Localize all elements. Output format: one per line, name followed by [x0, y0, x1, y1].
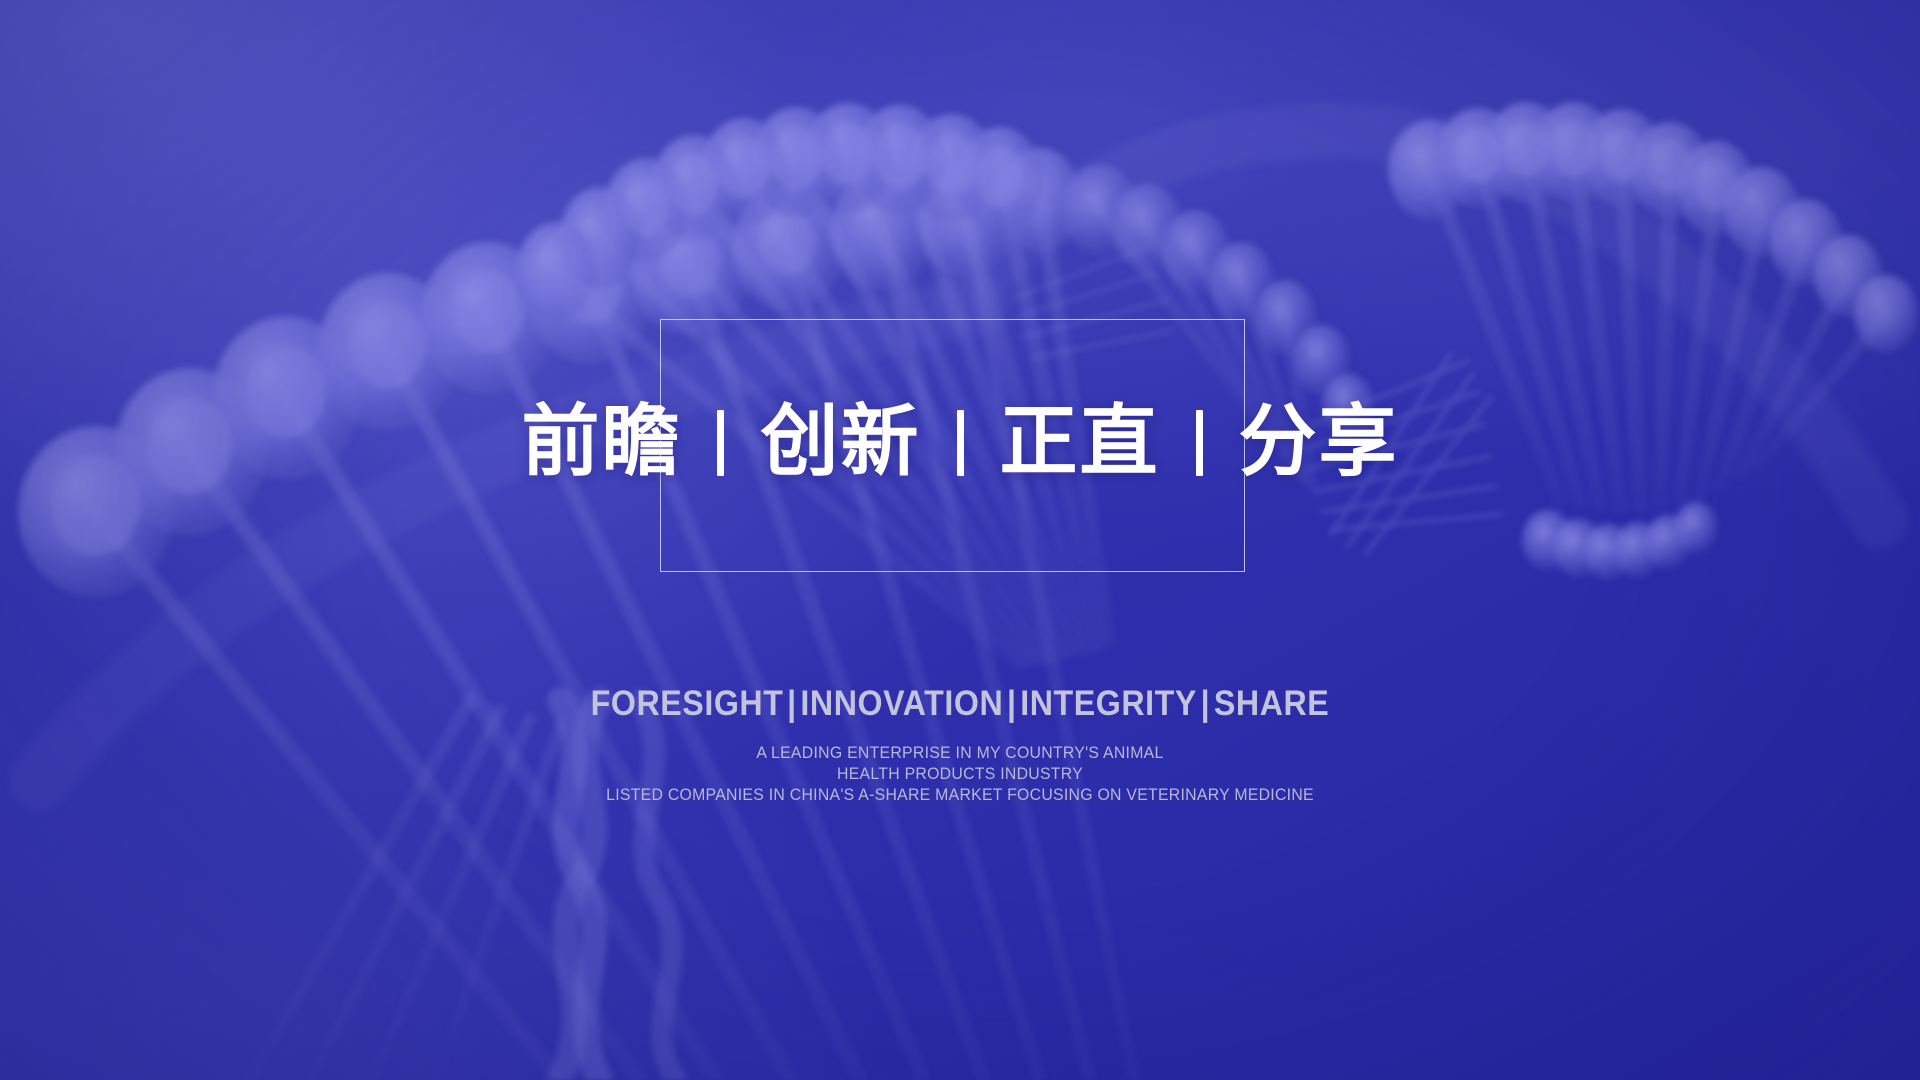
subtitle-block: A LEADING ENTERPRISE IN MY COUNTRY'S ANI… — [67, 742, 1853, 805]
headline-value-3: 正直 — [1000, 395, 1160, 487]
tagline-separator-3: | — [1197, 684, 1214, 724]
headline-values: 前瞻创新正直分享 — [0, 395, 1920, 487]
headline-separator-1 — [717, 410, 724, 476]
tagline-value-4: SHARE — [1214, 684, 1329, 723]
tagline-separator-2: | — [1003, 684, 1020, 724]
tagline-value-2: INNOVATION — [800, 684, 1003, 723]
tagline-separator-1: | — [783, 684, 800, 724]
subtitle-line-1: A LEADING ENTERPRISE IN MY COUNTRY'S ANI… — [67, 742, 1853, 763]
banner-stage: 前瞻创新正直分享 FORESIGHT|INNOVATION|INTEGRITY|… — [0, 0, 1920, 1080]
subtitle-line-3: LISTED COMPANIES IN CHINA'S A-SHARE MARK… — [67, 784, 1853, 805]
headline-separator-2 — [957, 410, 964, 476]
headline-value-4: 分享 — [1239, 395, 1399, 487]
tagline-value-1: FORESIGHT — [591, 684, 784, 723]
headline-value-2: 创新 — [760, 395, 920, 487]
tagline-values: FORESIGHT|INNOVATION|INTEGRITY|SHARE — [77, 684, 1843, 724]
subtitle-line-2: HEALTH PRODUCTS INDUSTRY — [67, 763, 1853, 784]
tagline-value-3: INTEGRITY — [1020, 684, 1197, 723]
headline-value-1: 前瞻 — [521, 395, 681, 487]
headline-separator-3 — [1196, 410, 1203, 476]
